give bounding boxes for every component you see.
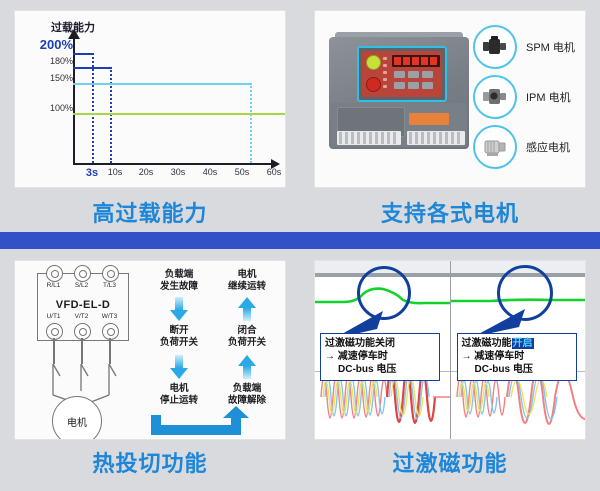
terminal-v-t2 [74,323,91,340]
callout-on-title: 过激磁功能开启 [462,337,572,350]
terminal-w-t3 [102,323,119,340]
motor-option-spm: SPM 电机 [473,25,575,69]
keypad-faceplate [362,51,442,97]
motor-option-induction: 感应电机 [473,125,570,169]
chart-series-200-dash [92,53,94,163]
caption-overexcite: 过激磁功能 [300,442,600,482]
chart-x-ticks: 3s 10s 20s 30s 40s 50s 60s [73,167,283,183]
servo-motor-icon [473,75,517,119]
motor-symbol-label: 电机 [67,414,87,429]
chart-x-tick-20s: 20s [139,167,154,177]
servo-motor-icon [473,25,517,69]
drive-terminal-strip-right [407,131,465,145]
overload-chart: 过载能力 t 200% 180% 150% 100% [15,11,285,187]
oscilloscope-comparison: 过激磁功能关闭 → 减速停车时 DC-bus 电压 [315,261,585,439]
callout-off-line2: → 减速停车时 [325,350,435,363]
motor-option-induction-label: 感应电机 [526,139,570,155]
flow-left-step-3: 电机 停止运转 [149,383,209,407]
chart-series-200-line [73,53,93,55]
scope-panel-on: 过激磁功能开启 → 减速停车时 DC-bus 电压 [451,261,586,439]
motor-symbol: 电机 [52,396,102,440]
motor-option-spm-label: SPM 电机 [526,39,575,55]
chart-x-tick-3s: 3s [86,167,98,179]
feature-cell-motors: SPM 电机 IPM 电机 [300,0,600,245]
hotswap-flow-diagram: 负载端 发生故障 电机 继续运转 断开 负荷开关 闭合 负荷开关 [143,267,286,437]
drive-terminal-strip-left [337,131,401,145]
chart-x-tick-30s: 30s [171,167,186,177]
caption-motors: 支持各式电机 [300,192,600,232]
keypad-led-display [392,55,440,67]
flow-right-step-1: 电机 继续运转 [217,269,277,293]
motor-support-card: SPM 电机 IPM 电机 [314,10,586,188]
chart-x-tick-40s: 40s [203,167,218,177]
chart-x-tick-60s: 60s [267,167,282,177]
chart-series-180-line [73,67,111,69]
flow-arrow-up-2 [238,355,256,379]
feature-cell-overexcite: 过激磁功能关闭 → 减速停车时 DC-bus 电压 [300,246,600,491]
chart-y-tick-100: 100% [21,103,73,113]
chart-x-tick-50s: 50s [235,167,250,177]
chart-y-ticks: 200% 180% 150% 100% [15,11,73,171]
chart-series-180-dash [110,67,112,163]
flow-return-arrow [151,415,241,435]
flow-left-step-1: 负载端 发生故障 [149,269,209,293]
run-button-icon [366,55,381,70]
drive-lower-housing [331,103,467,147]
chart-y-axis [73,37,75,165]
flow-right-step-2: 闭合 负荷开关 [217,325,277,349]
flow-arrow-up-1 [238,297,256,321]
flow-arrow-down-1 [170,297,188,321]
caption-overload: 高过载能力 [0,192,300,232]
callout-on-state-badge: 开启 [512,338,534,349]
terminal-s-l2-label: S/L2 [75,282,88,289]
drive-keypad [357,46,447,102]
chart-x-axis-label: t [285,155,286,169]
feature-grid-page: 过载能力 t 200% 180% 150% 100% [0,0,600,491]
induction-motor-icon [473,125,517,169]
drive-orange-connector [409,113,449,125]
terminal-r-l1-label: R/L1 [47,282,61,289]
overload-chart-card: 过载能力 t 200% 180% 150% 100% [14,10,286,188]
chart-series-150-line [73,83,251,85]
chart-series-100-line [73,113,285,115]
terminal-r-l1 [46,265,63,282]
flow-left-step-2: 断开 负荷开关 [149,325,209,349]
chart-y-tick-200: 200% [19,37,73,52]
vfd-model-label: VFD-EL-D [38,299,128,311]
terminal-s-l2 [74,265,91,282]
chart-y-tick-180: 180% [21,56,73,66]
terminal-u-t1 [46,323,63,340]
hotswap-diagram-card: VFD-EL-D R/L1 S/L2 T/L3 U/T1 V/T2 W/T3 [14,260,286,440]
motor-option-ipm-label: IPM 电机 [526,89,571,105]
chart-series-150-dash [250,83,252,163]
flow-arrow-down-2 [170,355,188,379]
stop-button-icon [366,77,381,92]
callout-off: 过激磁功能关闭 → 减速停车时 DC-bus 电压 [320,333,440,381]
flow-right-step-3: 负载端 故障解除 [217,383,277,407]
feature-cell-hotswap: VFD-EL-D R/L1 S/L2 T/L3 U/T1 V/T2 W/T3 [0,246,300,491]
feature-cell-overload: 过载能力 t 200% 180% 150% 100% [0,0,300,245]
callout-on-line3: DC-bus 电压 [462,363,572,376]
vfd-drive-photo [329,37,469,149]
scope-panel-off: 过激磁功能关闭 → 减速停车时 DC-bus 电压 [315,261,451,439]
overexcite-scope-card: 过激磁功能关闭 → 减速停车时 DC-bus 电压 [314,260,586,440]
terminal-t-l3 [102,265,119,282]
terminal-v-t2-label: V/T2 [75,313,89,320]
terminal-u-t1-label: U/T1 [46,313,60,320]
callout-on-line2: → 减速停车时 [462,350,572,363]
terminal-w-t3-label: W/T3 [102,313,118,320]
motor-option-ipm: IPM 电机 [473,75,571,119]
chart-x-axis [73,163,273,165]
callout-on: 过激磁功能开启 → 减速停车时 DC-bus 电压 [457,333,577,381]
callout-off-title: 过激磁功能关闭 [325,337,435,350]
callout-off-line3: DC-bus 电压 [325,363,435,376]
caption-hotswap: 热投切功能 [0,442,300,482]
chart-x-tick-10s: 10s [108,167,123,177]
terminal-t-l3-label: T/L3 [103,282,116,289]
chart-y-tick-150: 150% [21,73,73,83]
